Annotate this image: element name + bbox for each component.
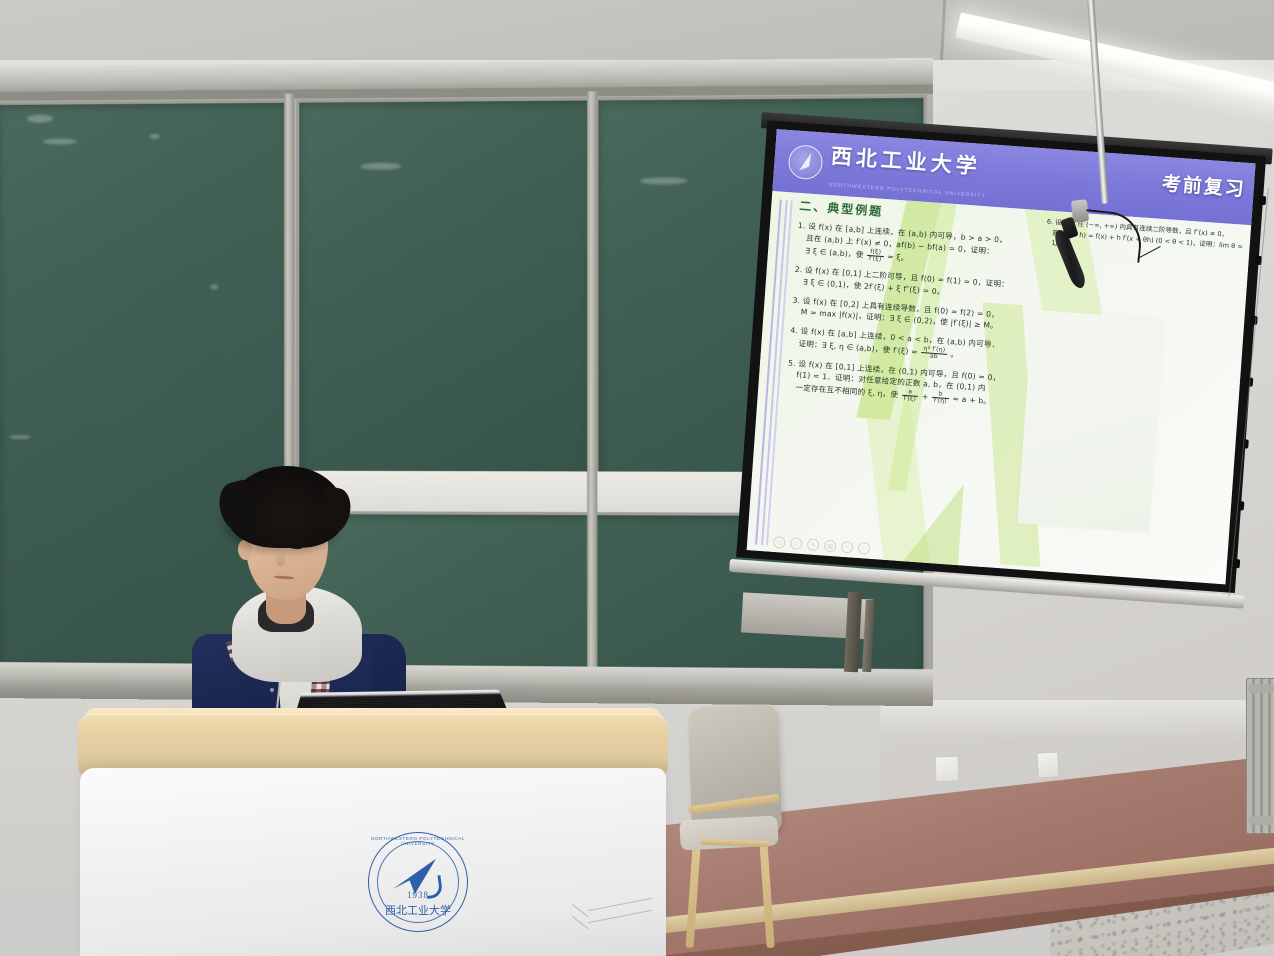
- radiator-cap-bottom: [1248, 816, 1274, 825]
- emblem-year: 1938: [368, 890, 468, 900]
- item-5-fraction-a: a f′(ξ): [901, 389, 918, 404]
- slide-paper-panel: [1017, 310, 1164, 533]
- item-5-plus: +: [922, 392, 929, 401]
- podium-chevron-decor: [556, 894, 652, 938]
- radiator-cap-top: [1248, 684, 1274, 693]
- ppt-presenter-controls[interactable]: ◁ ▷ ✎ ▤ − ⋯: [773, 536, 871, 555]
- zoom-out-icon[interactable]: −: [841, 541, 854, 554]
- cast-iron-radiator: [1246, 678, 1274, 834]
- blackboard-panel-middle: [296, 97, 593, 508]
- item-2-number: 2.: [795, 265, 803, 275]
- pen-icon[interactable]: ✎: [807, 538, 820, 551]
- student-hair: [228, 466, 344, 548]
- thumbnails-icon[interactable]: ▤: [824, 540, 837, 553]
- play-icon[interactable]: ▷: [790, 537, 803, 550]
- classroom-scene: 西北工业大学 NORTHWESTERN POLYTECHNICAL UNIVER…: [0, 0, 1274, 956]
- podium-university-emblem: NORTHWESTERN POLYTECHNICAL UNIVERSITY 19…: [368, 832, 468, 932]
- item-1-line3-pre: ∃ ξ ∈ (a,b)，使: [805, 246, 864, 259]
- item-1-fraction: f(ξ) f′(ξ): [867, 248, 884, 263]
- item-5-line3-post: = a + b。: [952, 394, 991, 406]
- student-jacket-snap-2: [270, 688, 274, 692]
- wall-socket[interactable]: [935, 756, 960, 783]
- previous-slide-icon[interactable]: ◁: [773, 536, 786, 549]
- item-6-number: 6.: [1047, 218, 1054, 226]
- npu-seal-icon: [787, 144, 823, 180]
- more-options-icon[interactable]: ⋯: [858, 542, 871, 555]
- item-4-denominator: ab: [921, 353, 947, 361]
- wall-switch[interactable]: [1036, 751, 1059, 778]
- item-5-denominator-b: f′(η): [932, 398, 949, 405]
- slide-badge-exam-review: 考前复习: [1161, 169, 1247, 202]
- item-4-line2-post: 。: [950, 350, 958, 360]
- slide-body: 二、典型例题 1. 设 f(x) 在 [a,b] 上连续，在 (a,b) 内可导…: [747, 191, 1252, 584]
- slide-institution-cn: 西北工业大学: [830, 140, 989, 181]
- student-nose: [276, 552, 285, 566]
- item-1-line3-post: = ξ。: [887, 252, 909, 263]
- item-3-number: 3.: [792, 295, 800, 305]
- blackboard-divider-2: [587, 91, 597, 676]
- projected-slide: 西北工业大学 NORTHWESTERN POLYTECHNICAL UNIVER…: [747, 129, 1256, 584]
- wall-light-band: [880, 700, 1274, 740]
- item-1-denominator: f′(ξ): [867, 256, 884, 263]
- screen-black-border: 西北工业大学 NORTHWESTERN POLYTECHNICAL UNIVER…: [736, 120, 1266, 593]
- projector-screen: 西北工业大学 NORTHWESTERN POLYTECHNICAL UNIVER…: [728, 112, 1272, 617]
- item-4-number: 4.: [790, 326, 798, 336]
- emblem-name-en: NORTHWESTERN POLYTECHNICAL UNIVERSITY: [368, 836, 468, 846]
- item-1-number: 1.: [798, 221, 806, 231]
- item-5-fraction-b: b f′(η): [932, 391, 950, 406]
- item-5-number: 5.: [788, 358, 796, 368]
- emblem-name-cn: 西北工业大学: [368, 902, 468, 918]
- item-4-fraction: η² f′(η) ab: [921, 346, 948, 361]
- item-5-denominator-a: f′(ξ): [901, 396, 918, 403]
- slide-item-5: 5. 设 f(x) 在 [0,1] 上连续，在 (0,1) 内可导，且 f(0)…: [786, 357, 1026, 411]
- podium-wood-trim: [78, 714, 668, 774]
- slide-text-column-left: 二、典型例题 1. 设 f(x) 在 [a,b] 上连续，在 (a,b) 内可导…: [785, 197, 1037, 418]
